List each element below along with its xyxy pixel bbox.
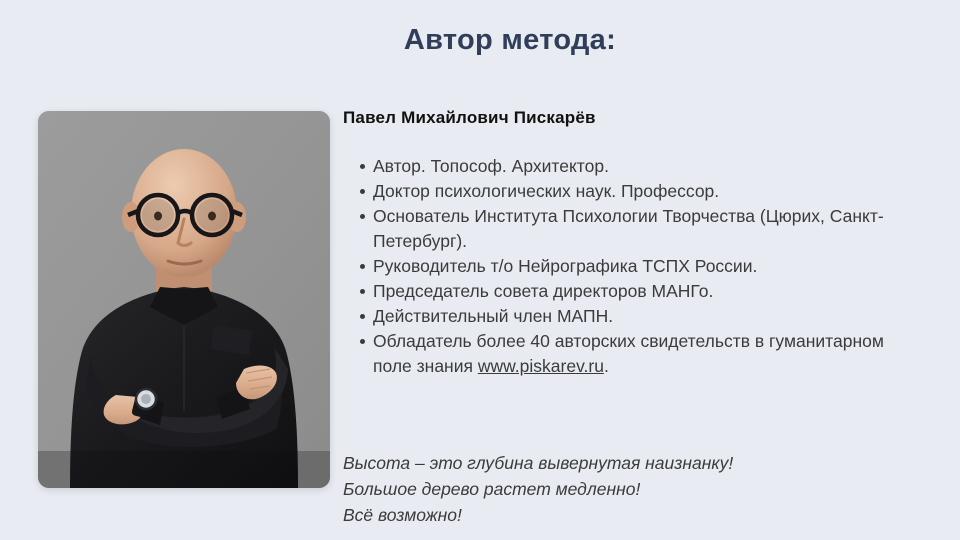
quote-line: Большое дерево растет медленно! [343,476,923,502]
quote-line: Высота – это глубина вывернутая наизнанк… [343,450,923,476]
list-item-with-link: Обладатель более 40 авторских свидетельс… [343,329,923,379]
list-item: Председатель совета директоров МАНГо. [343,279,923,304]
quote-line: Всё возможно! [343,502,923,528]
author-name: Павел Михайлович Пискарёв [343,108,923,128]
quotes-block: Высота – это глубина вывернутая наизнанк… [343,450,923,528]
page-title: Автор метода: [0,24,960,57]
portrait-illustration [38,111,330,488]
website-link[interactable]: www.piskarev.ru [478,356,604,376]
list-item-text-suffix: . [604,356,609,376]
author-portrait-photo [38,111,330,488]
list-item: Действительный член МАПН. [343,304,923,329]
slide-root: Автор метода: [0,0,960,540]
list-item: Доктор психологических наук. Профессор. [343,179,923,204]
bio-block: Павел Михайлович Пискарёв Автор. Топософ… [343,108,923,379]
bio-credentials-list: Автор. Топософ. Архитектор. Доктор психо… [343,154,923,379]
list-item-text: Обладатель более 40 авторских свидетельс… [373,331,884,376]
list-item: Основатель Института Психологии Творчест… [343,204,923,254]
list-item: Автор. Топософ. Архитектор. [343,154,923,179]
list-item: Руководитель т/о Нейрографика ТСПХ Росси… [343,254,923,279]
